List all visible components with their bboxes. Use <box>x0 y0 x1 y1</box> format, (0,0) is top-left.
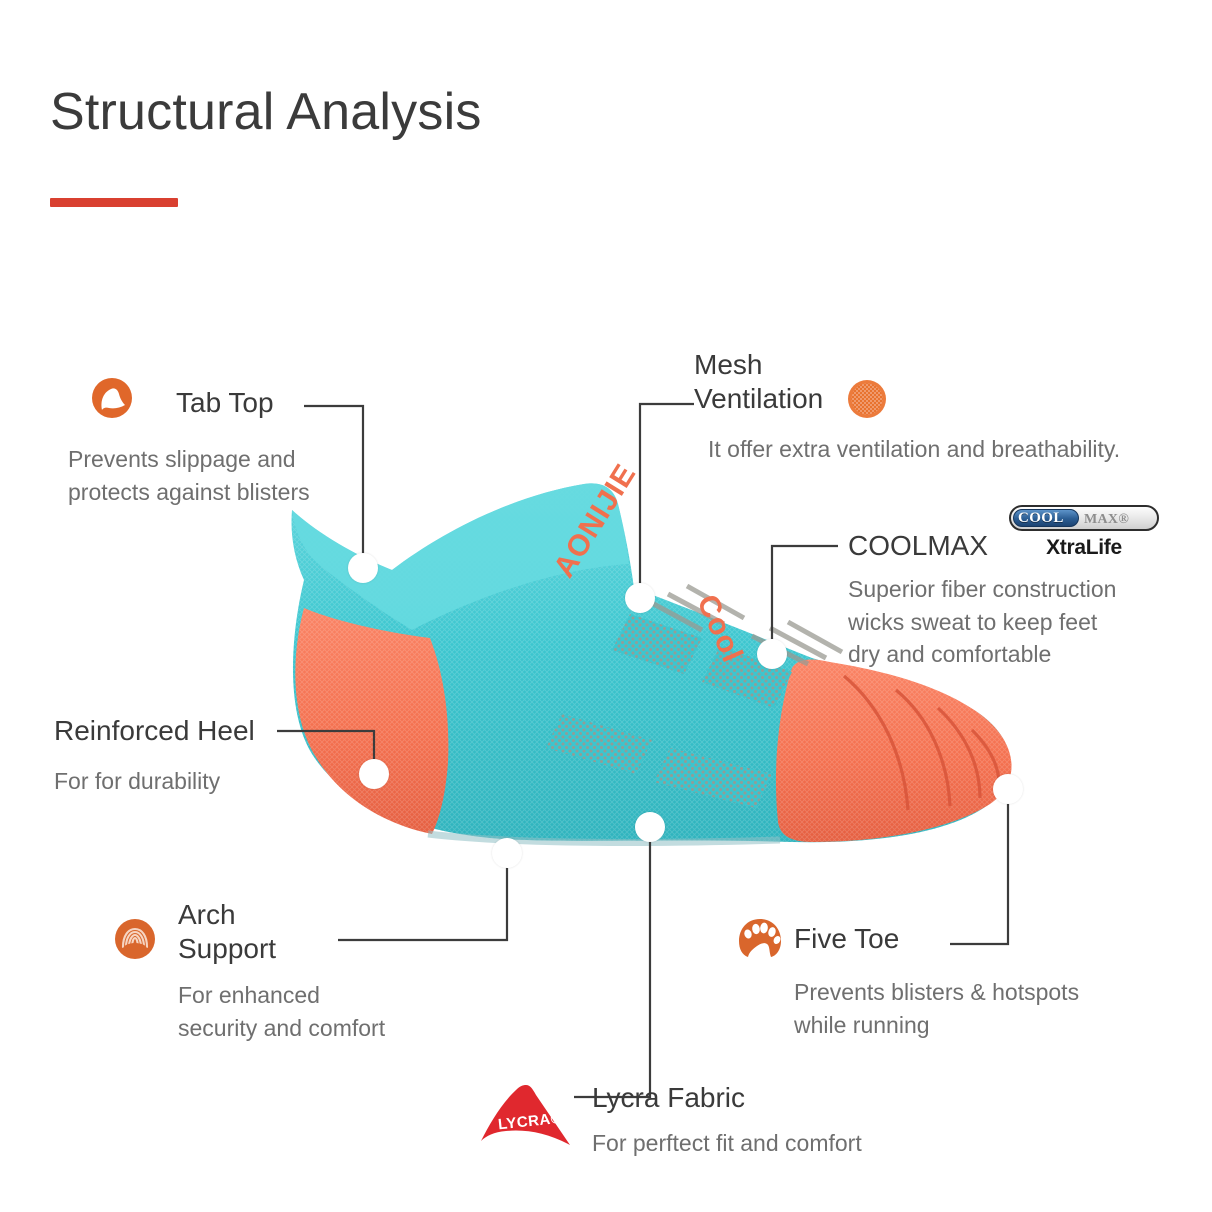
marker-dot-arch-support[interactable] <box>492 838 522 868</box>
feature-coolmax-title-wrap: COOLMAX <box>848 529 988 563</box>
feature-tab-top-title: Tab Top <box>176 386 274 420</box>
feature-five-toe-description: Prevents blisters & hotspots while runni… <box>794 976 1154 1041</box>
mesh-ventilation-icon <box>846 378 888 420</box>
feature-arch-support-title: Arch Support <box>178 898 276 966</box>
arch-support-icon <box>112 916 158 962</box>
coolmax-logo: COOL MAX® XtraLife <box>1009 505 1159 560</box>
feature-arch-support-description: For enhanced security and comfort <box>178 979 478 1044</box>
feature-heel-desc-wrap: For for durability <box>54 765 354 798</box>
feature-lycra-title-wrap: Lycra Fabric <box>592 1081 745 1115</box>
feature-coolmax-description: Superior fiber construction wicks sweat … <box>848 573 1188 671</box>
feature-arch-desc-wrap: For enhanced security and comfort <box>178 979 478 1044</box>
infographic-canvas: Structural Analysis <box>0 0 1212 1212</box>
marker-dot-coolmax[interactable] <box>757 639 787 669</box>
marker-dot-mesh-ventilation[interactable] <box>625 583 655 613</box>
feature-coolmax-desc-wrap: Superior fiber construction wicks sweat … <box>848 573 1188 671</box>
feature-lycra-desc-wrap: For perftect fit and comfort <box>592 1127 1012 1160</box>
page-title: Structural Analysis <box>50 86 482 138</box>
five-toe-icon <box>736 916 784 960</box>
coolmax-cool-text: COOL <box>1018 510 1064 527</box>
tab-top-icon <box>90 376 134 420</box>
title-underline-rule <box>50 198 178 207</box>
coolmax-xtralife-text: XtraLife <box>1009 536 1159 560</box>
coolmax-pill: COOL MAX® <box>1009 505 1159 531</box>
feature-mesh-title-wrap: Mesh Ventilation <box>694 348 823 416</box>
feature-five-toe-title: Five Toe <box>794 922 899 956</box>
lycra-logo: LYCRA® <box>478 1083 574 1156</box>
feature-arch-title-wrap: Arch Support <box>178 898 276 966</box>
feature-tab-top-description: Prevents slippage and protects against b… <box>68 443 398 508</box>
feature-heel-title-wrap: Reinforced Heel <box>54 714 255 748</box>
feature-five-toe-title-wrap: Five Toe <box>794 922 899 956</box>
feature-reinforced-heel-title: Reinforced Heel <box>54 714 255 748</box>
feature-mesh-ventilation-title: Mesh Ventilation <box>694 348 823 416</box>
coolmax-max-text: MAX® <box>1084 511 1129 528</box>
feature-five-toe-desc-wrap: Prevents blisters & hotspots while runni… <box>794 976 1154 1041</box>
feature-mesh-ventilation-description: It offer extra ventilation and breathabi… <box>708 433 1208 466</box>
marker-dot-five-toe[interactable] <box>993 774 1023 804</box>
sock-heel-coral <box>295 608 448 834</box>
feature-tab-top-title-wrap: Tab Top <box>176 386 274 420</box>
marker-dot-lycra-fabric[interactable] <box>635 812 665 842</box>
sock-toe-coral <box>776 660 1012 842</box>
marker-dot-tab-top[interactable] <box>348 553 378 583</box>
feature-lycra-fabric-title: Lycra Fabric <box>592 1081 745 1115</box>
feature-lycra-fabric-description: For perftect fit and comfort <box>592 1127 1012 1160</box>
marker-dot-reinforced-heel[interactable] <box>359 759 389 789</box>
feature-mesh-desc-wrap: It offer extra ventilation and breathabi… <box>708 433 1208 466</box>
feature-coolmax-title: COOLMAX <box>848 529 988 563</box>
feature-tab-top-desc-wrap: Prevents slippage and protects against b… <box>68 443 398 508</box>
feature-reinforced-heel-description: For for durability <box>54 765 354 798</box>
